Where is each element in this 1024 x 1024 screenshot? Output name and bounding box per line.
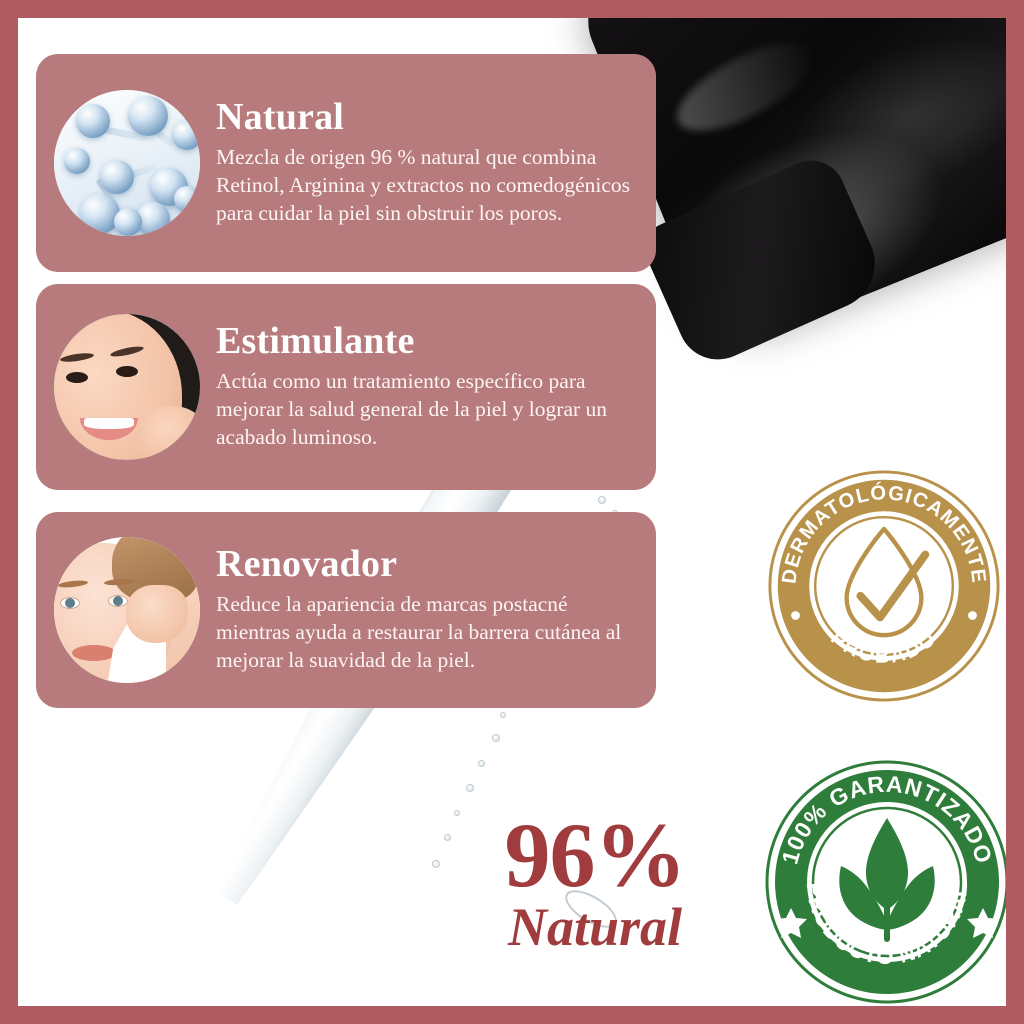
- hand: [138, 406, 200, 460]
- badge-natural-guaranteed: 100% GARANTIZADO PRODUCTO NATURAL: [763, 758, 1006, 1006]
- serum-bubble: [444, 834, 451, 841]
- woman-teal-headband-illustration: [54, 314, 200, 460]
- serum-bubble: [454, 810, 460, 816]
- dropper-cap-neck: [637, 150, 890, 372]
- serum-bubble: [598, 496, 606, 504]
- badge-dot-right: [968, 611, 977, 620]
- claim-word: Natural: [470, 900, 720, 954]
- badge-dermatologically-tested-graphic: DERMATOLÓGICAMENTE PROBADO: [766, 468, 1002, 704]
- feature-title: Natural: [216, 98, 636, 137]
- lips: [72, 645, 116, 661]
- cap-red-highlight: [772, 18, 923, 76]
- feature-title: Estimulante: [216, 322, 636, 361]
- feature-card-text: Natural Mezcla de origen 96 % natural qu…: [216, 98, 636, 228]
- cap-gloss-highlight: [665, 26, 825, 148]
- eye-left: [66, 372, 88, 383]
- feature-body: Mezcla de origen 96 % natural que combin…: [216, 144, 636, 228]
- feature-card-text: Renovador Reduce la apariencia de marcas…: [216, 545, 636, 675]
- peeling-mask-photo: [54, 537, 200, 683]
- smiling-woman-photo: [54, 314, 200, 460]
- feature-card-estimulante: Estimulante Actúa como un tratamiento es…: [36, 284, 656, 490]
- badge-dermatologically-tested: DERMATOLÓGICAMENTE PROBADO: [766, 468, 1002, 704]
- image-canvas: Natural Mezcla de origen 96 % natural qu…: [0, 0, 1024, 1024]
- serum-bubble: [492, 734, 500, 742]
- teeth: [84, 418, 134, 429]
- serum-bubble: [500, 712, 506, 718]
- natural-percentage-claim: 96% Natural: [470, 813, 720, 954]
- feature-card-renovador: Renovador Reduce la apariencia de marcas…: [36, 512, 656, 708]
- feature-body: Actúa como un tratamiento específico par…: [216, 368, 636, 452]
- feature-body: Reduce la apariencia de marcas postacné …: [216, 591, 636, 675]
- pupil-right: [113, 596, 123, 606]
- eye-right: [116, 366, 138, 377]
- serum-bubble: [432, 860, 440, 868]
- fingers: [126, 585, 188, 643]
- molecule-photo: [54, 90, 200, 236]
- feature-title: Renovador: [216, 545, 636, 584]
- feature-card-natural: Natural Mezcla de origen 96 % natural qu…: [36, 54, 656, 272]
- feature-card-text: Estimulante Actúa como un tratamiento es…: [216, 322, 636, 452]
- claim-percent: 96%: [470, 813, 720, 898]
- serum-bubble: [466, 784, 474, 792]
- inner-white-area: Natural Mezcla de origen 96 % natural qu…: [18, 18, 1006, 1006]
- peeling-mask-illustration: [54, 537, 200, 683]
- pupil-left: [65, 598, 75, 608]
- badge-dot-left: [791, 611, 800, 620]
- badge-natural-guaranteed-graphic: 100% GARANTIZADO PRODUCTO NATURAL: [763, 758, 1006, 1006]
- molecule-illustration: [54, 90, 200, 236]
- serum-bubble: [478, 760, 485, 767]
